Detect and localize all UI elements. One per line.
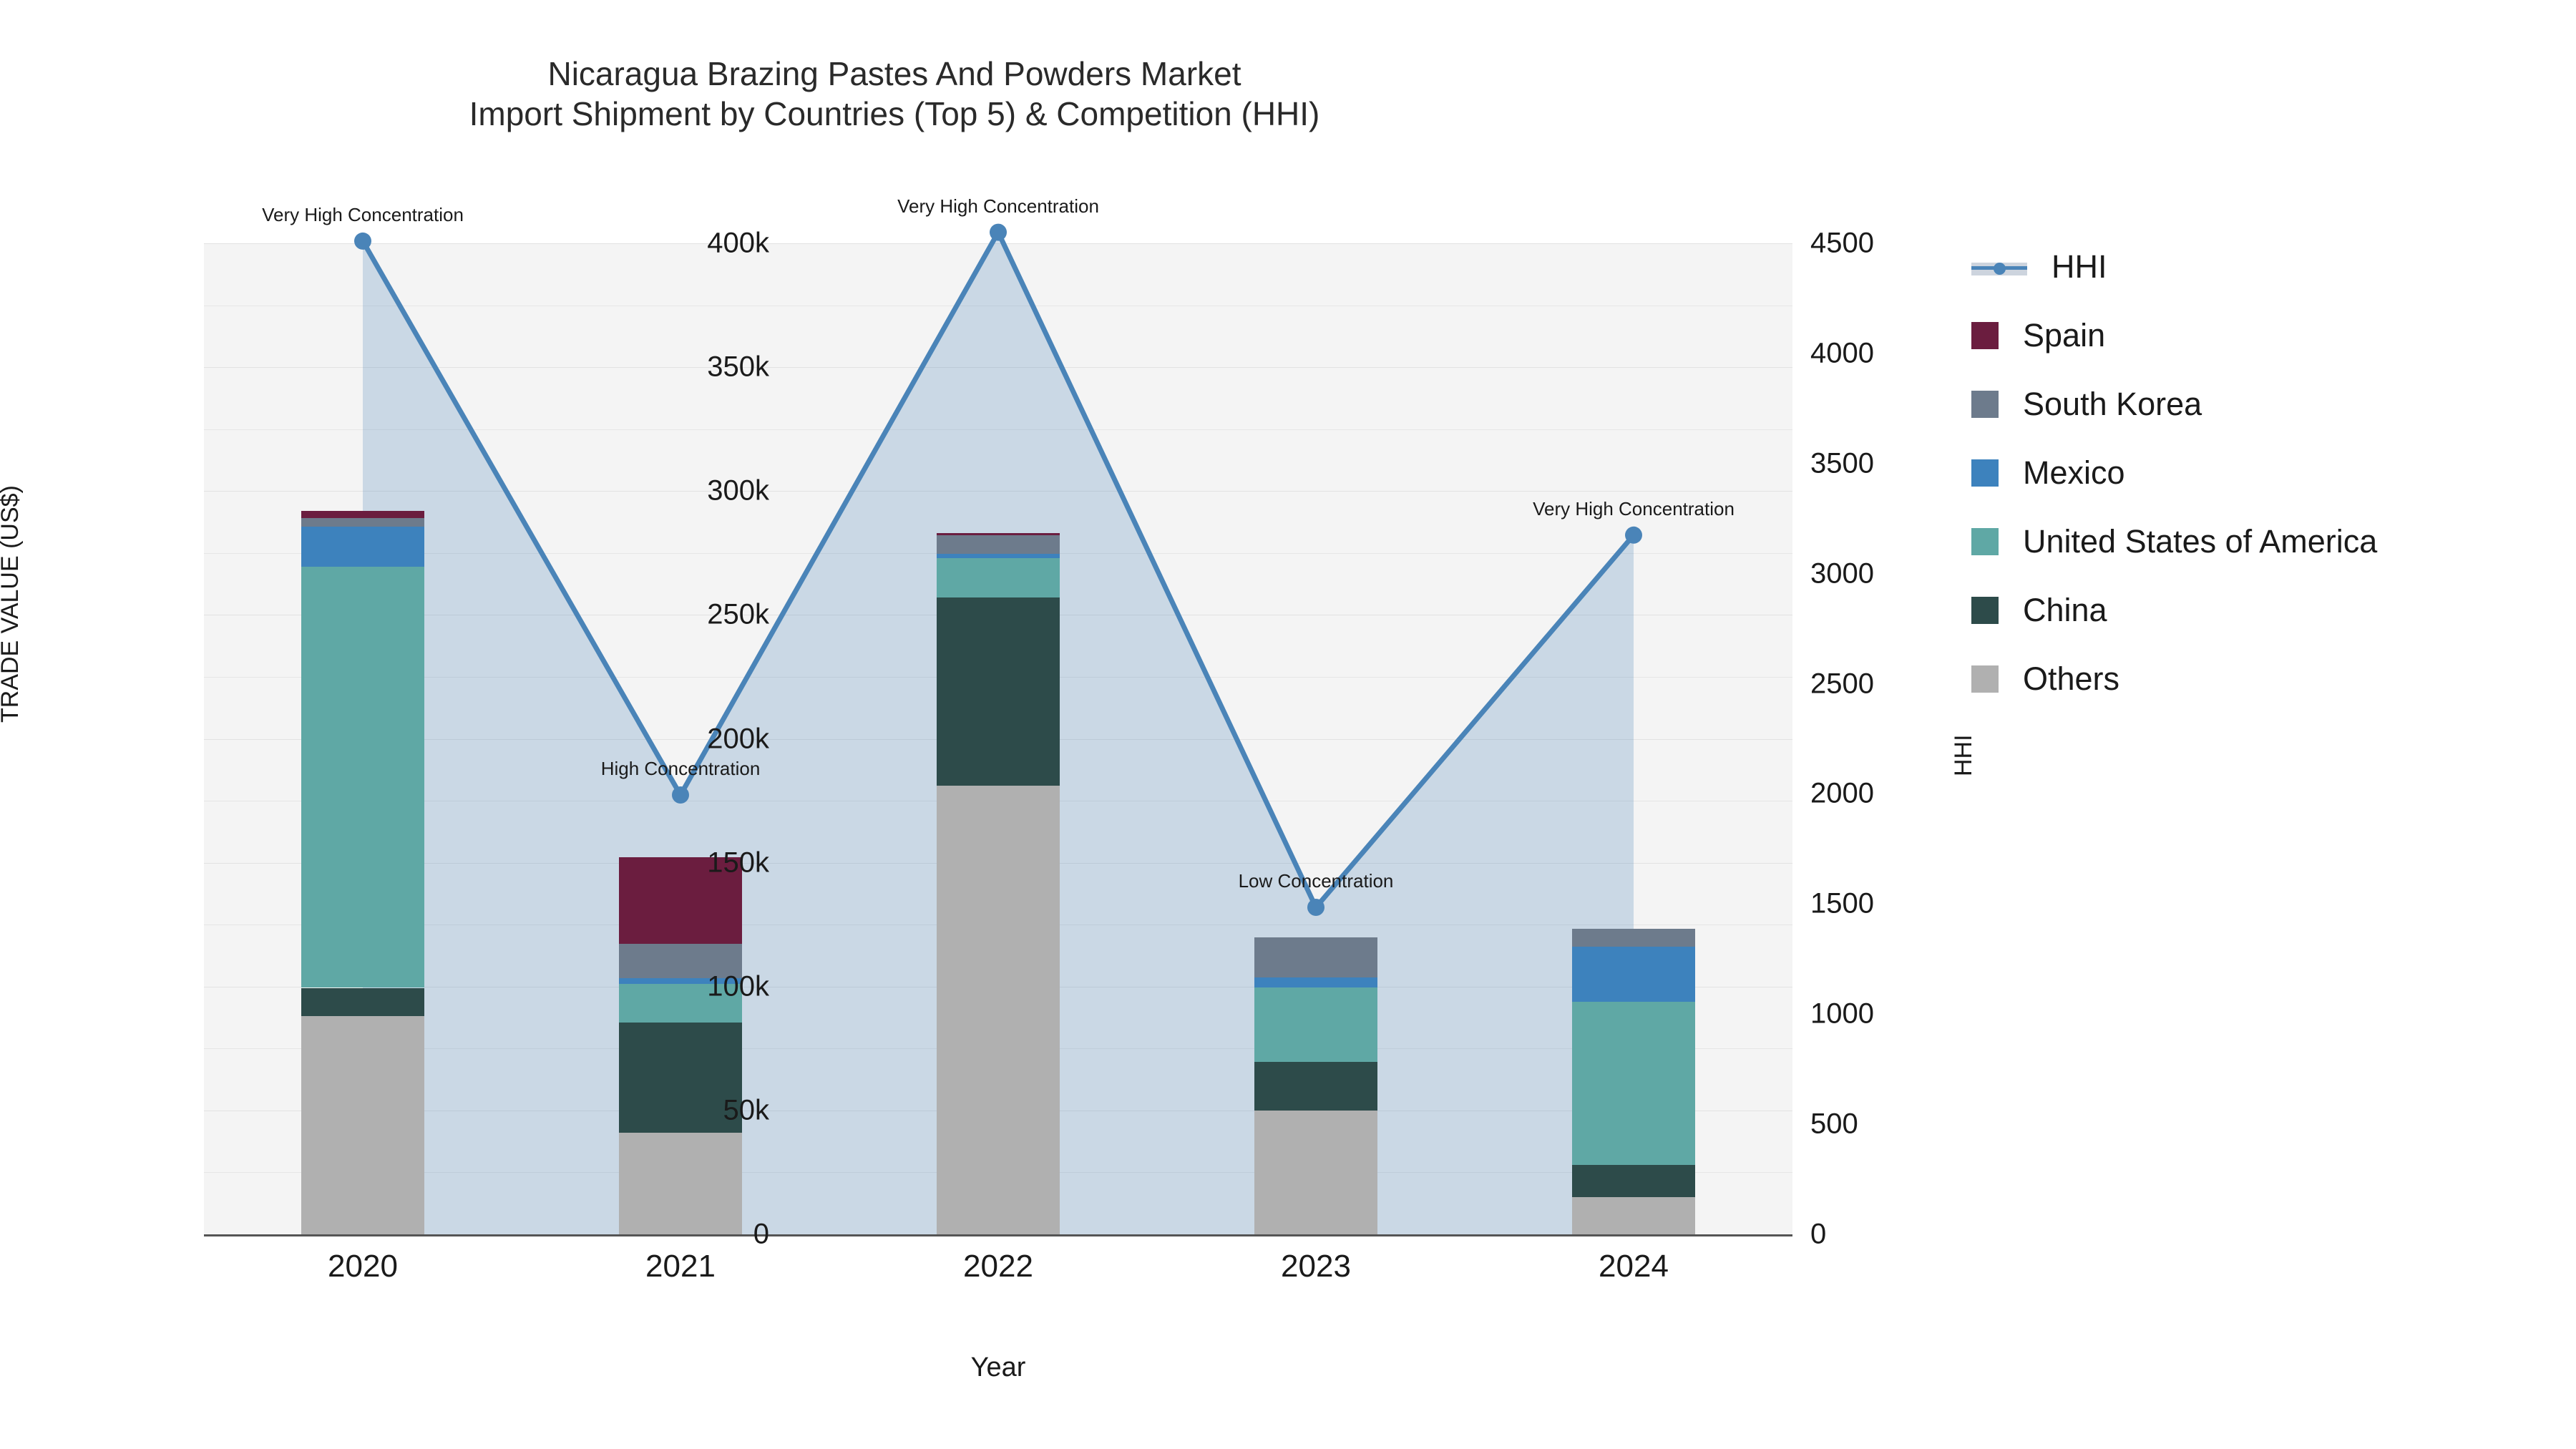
y-axis-left-tick: 0 bbox=[753, 1219, 769, 1251]
legend-item[interactable]: China bbox=[1971, 576, 2377, 645]
x-axis-tick: 2024 bbox=[1599, 1249, 1669, 1284]
legend-label: Mexico bbox=[2023, 454, 2125, 492]
concentration-annotation: High Concentration bbox=[601, 758, 761, 780]
x-axis-tick: 2023 bbox=[1281, 1249, 1351, 1284]
x-axis-tick: 2022 bbox=[963, 1249, 1033, 1284]
concentration-annotation: Very High Concentration bbox=[1533, 498, 1735, 520]
y-axis-left-tick: 350k bbox=[707, 351, 769, 384]
y-axis-left-tick: 50k bbox=[723, 1094, 770, 1126]
legend-item[interactable]: South Korea bbox=[1971, 370, 2377, 439]
y-axis-right-tick: 2000 bbox=[1810, 778, 1874, 810]
y-axis-right-tick: 0 bbox=[1810, 1219, 1826, 1251]
hhi-marker[interactable] bbox=[990, 224, 1007, 241]
legend: HHISpainSouth KoreaMexicoUnited States o… bbox=[1971, 233, 2377, 713]
y-axis-left-tick: 100k bbox=[707, 970, 769, 1002]
x-axis-tick: 2020 bbox=[328, 1249, 398, 1284]
legend-item[interactable]: HHI bbox=[1971, 233, 2377, 301]
legend-swatch bbox=[1971, 391, 1999, 418]
legend-swatch bbox=[1971, 528, 1999, 555]
legend-label: South Korea bbox=[2023, 386, 2202, 423]
legend-label: HHI bbox=[2051, 248, 2107, 286]
chart-title-line-2: Import Shipment by Countries (Top 5) & C… bbox=[0, 94, 1789, 134]
legend-label: Spain bbox=[2023, 317, 2105, 354]
x-axis-line bbox=[204, 1234, 1792, 1236]
y-axis-right-tick: 3000 bbox=[1810, 557, 1874, 590]
y-axis-right-label: HHI bbox=[1950, 734, 1978, 776]
y-axis-left-tick: 150k bbox=[707, 847, 769, 879]
hhi-line-path bbox=[363, 233, 1634, 907]
legend-swatch bbox=[1971, 665, 1999, 693]
x-axis-label: Year bbox=[0, 1352, 1996, 1383]
legend-label: China bbox=[2023, 592, 2107, 629]
y-axis-right-tick: 500 bbox=[1810, 1108, 1858, 1141]
y-axis-right-tick: 4000 bbox=[1810, 337, 1874, 369]
y-axis-left-tick: 200k bbox=[707, 723, 769, 755]
y-axis-left-tick: 300k bbox=[707, 475, 769, 507]
y-axis-left-tick: 400k bbox=[707, 228, 769, 260]
y-axis-left-tick: 250k bbox=[707, 599, 769, 631]
legend-line-icon bbox=[1971, 253, 2027, 280]
concentration-annotation: Very High Concentration bbox=[897, 195, 1099, 218]
y-axis-right-tick: 3500 bbox=[1810, 447, 1874, 479]
plot-area: Very High ConcentrationHigh Concentratio… bbox=[204, 222, 1792, 1234]
chart-root: Nicaragua Brazing Pastes And Powders Mar… bbox=[0, 0, 2576, 1449]
hhi-marker[interactable] bbox=[1625, 527, 1642, 544]
concentration-annotation: Very High Concentration bbox=[262, 204, 464, 226]
y-axis-right-tick: 4500 bbox=[1810, 228, 1874, 260]
y-axis-right-tick: 1500 bbox=[1810, 888, 1874, 920]
chart-title-line-1: Nicaragua Brazing Pastes And Powders Mar… bbox=[0, 54, 1789, 94]
hhi-marker[interactable] bbox=[672, 786, 689, 804]
y-axis-right-tick: 2500 bbox=[1810, 668, 1874, 700]
y-axis-left-label: TRADE VALUE (US$) bbox=[0, 485, 24, 723]
y-axis-right-tick: 1000 bbox=[1810, 998, 1874, 1030]
legend-swatch bbox=[1971, 459, 1999, 487]
legend-item[interactable]: United States of America bbox=[1971, 507, 2377, 576]
legend-item[interactable]: Others bbox=[1971, 645, 2377, 713]
concentration-annotation: Low Concentration bbox=[1239, 870, 1394, 892]
hhi-marker[interactable] bbox=[1307, 899, 1324, 916]
hhi-line-svg bbox=[204, 222, 1792, 1234]
legend-label: United States of America bbox=[2023, 523, 2377, 560]
legend-swatch bbox=[1971, 322, 1999, 349]
legend-item[interactable]: Spain bbox=[1971, 301, 2377, 370]
x-axis-tick: 2021 bbox=[645, 1249, 716, 1284]
chart-title: Nicaragua Brazing Pastes And Powders Mar… bbox=[0, 54, 1789, 134]
legend-label: Others bbox=[2023, 660, 2119, 698]
legend-item[interactable]: Mexico bbox=[1971, 439, 2377, 507]
legend-swatch bbox=[1971, 597, 1999, 624]
hhi-marker[interactable] bbox=[354, 233, 371, 250]
